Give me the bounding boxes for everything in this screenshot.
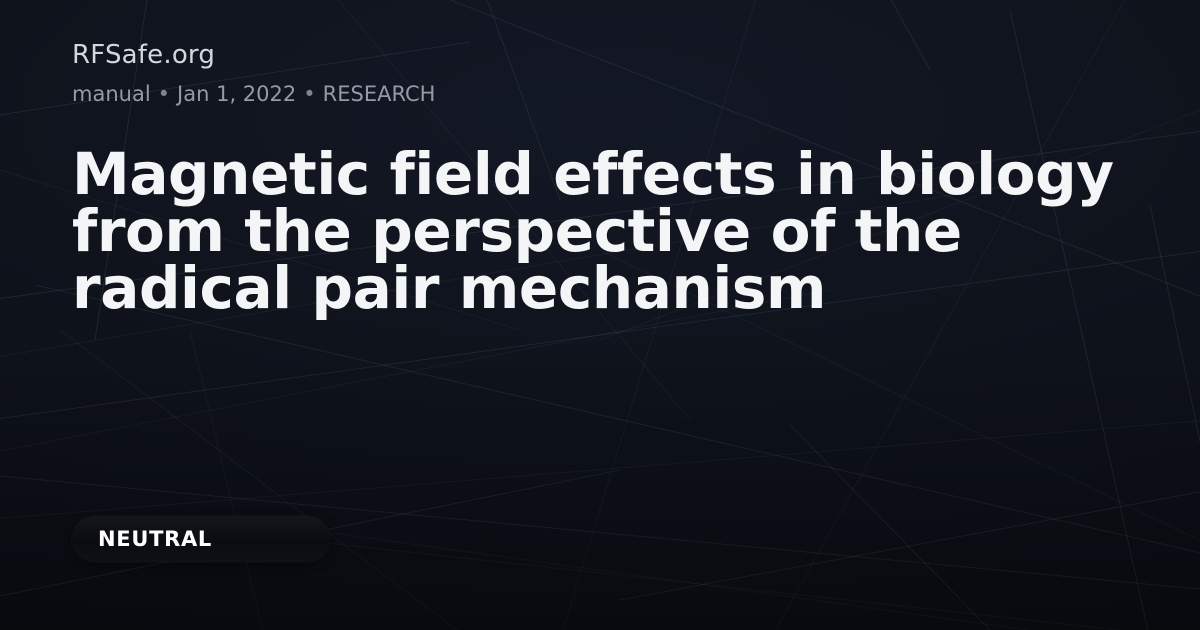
meta-separator-2: • — [296, 82, 322, 106]
status-badge-label: NEUTRAL — [98, 529, 212, 550]
meta-line: manual•Jan 1, 2022•RESEARCH — [72, 84, 435, 105]
meta-date: Jan 1, 2022 — [177, 82, 296, 106]
meta-category: RESEARCH — [323, 82, 436, 106]
status-badge: NEUTRAL — [72, 516, 330, 562]
meta-source: manual — [72, 82, 151, 106]
page-title: Magnetic field effects in biology from t… — [72, 146, 1134, 317]
badge-container: NEUTRAL — [72, 516, 330, 562]
card-content: RFSafe.org manual•Jan 1, 2022•RESEARCH M… — [72, 0, 1152, 630]
site-name: RFSafe.org — [72, 42, 215, 68]
social-share-card: RFSafe.org manual•Jan 1, 2022•RESEARCH M… — [0, 0, 1200, 630]
meta-separator-1: • — [151, 82, 177, 106]
